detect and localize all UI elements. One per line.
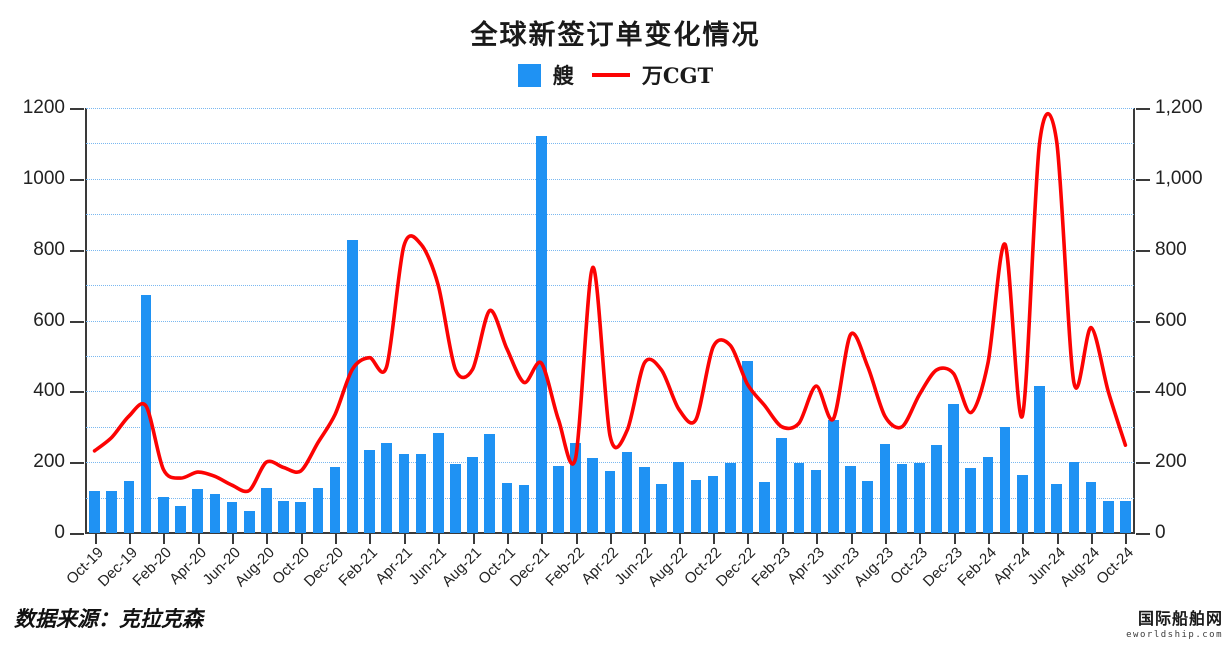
y-tick-left [70, 108, 84, 110]
watermark-en: eworldship.com [1126, 630, 1223, 640]
y-tick-left [70, 179, 84, 181]
legend-label-bar: 艘 [553, 60, 574, 90]
x-tick [266, 533, 268, 544]
watermark: 国际船舶网 eworldship.com [1126, 605, 1223, 640]
y-tick-right [1136, 108, 1150, 110]
x-tick [610, 533, 612, 544]
x-tick [335, 533, 337, 544]
x-tick [576, 533, 578, 544]
x-tick [507, 533, 509, 544]
x-tick [747, 533, 749, 544]
x-tick [129, 533, 131, 544]
y-axis-left-label: 1000 [23, 168, 65, 190]
legend-square-icon [518, 64, 541, 87]
watermark-cn: 国际船舶网 [1126, 605, 1223, 629]
x-tick [198, 533, 200, 544]
x-tick [644, 533, 646, 544]
x-tick [163, 533, 165, 544]
y-axis-left-label: 0 [54, 522, 65, 544]
x-tick [301, 533, 303, 544]
x-tick [1125, 533, 1127, 544]
x-tick [679, 533, 681, 544]
y-tick-left [70, 391, 84, 393]
line-series [86, 108, 1134, 533]
y-axis-left-label: 400 [33, 380, 65, 402]
y-axis-right-label: 1,200 [1155, 97, 1203, 119]
x-tick [1091, 533, 1093, 544]
y-axis-right-label: 0 [1155, 522, 1166, 544]
y-axis-right-label: 200 [1155, 451, 1187, 473]
y-axis-right-label: 600 [1155, 310, 1187, 332]
x-tick [541, 533, 543, 544]
chart-root: 全球新签订单变化情况 艘 万CGT 0020020040040060060080… [0, 0, 1231, 651]
x-tick [438, 533, 440, 544]
y-axis-left-label: 1200 [23, 97, 65, 119]
y-axis-right-label: 1,000 [1155, 168, 1203, 190]
x-tick [885, 533, 887, 544]
y-tick-left [70, 462, 84, 464]
source-note: 数据来源：克拉克森 [14, 603, 203, 633]
line-path [95, 114, 1126, 492]
legend-item-bar: 艘 [518, 60, 574, 90]
chart-legend: 艘 万CGT [0, 60, 1231, 90]
y-tick-left [70, 321, 84, 323]
x-tick [954, 533, 956, 544]
x-tick [232, 533, 234, 544]
y-tick-left [70, 250, 84, 252]
y-axis-left-label: 200 [33, 451, 65, 473]
x-tick [404, 533, 406, 544]
x-tick [713, 533, 715, 544]
y-axis-right-label: 400 [1155, 380, 1187, 402]
x-tick [919, 533, 921, 544]
legend-line-icon [592, 73, 630, 77]
y-axis-right-label: 800 [1155, 239, 1187, 261]
legend-label-line: 万CGT [642, 60, 713, 90]
y-tick-left [70, 533, 84, 535]
y-tick-right [1136, 391, 1150, 393]
y-tick-right [1136, 250, 1150, 252]
plot-area: 0020020040040060060080080010001,00012001… [86, 108, 1134, 533]
x-tick [851, 533, 853, 544]
x-tick [1022, 533, 1024, 544]
y-axis-left-label: 800 [33, 239, 65, 261]
x-tick [369, 533, 371, 544]
x-tick [816, 533, 818, 544]
y-tick-right [1136, 321, 1150, 323]
chart-title: 全球新签订单变化情况 [0, 13, 1231, 52]
x-tick [95, 533, 97, 544]
x-tick [473, 533, 475, 544]
legend-item-line: 万CGT [592, 60, 713, 90]
y-tick-right [1136, 462, 1150, 464]
x-tick [782, 533, 784, 544]
y-axis-left-label: 600 [33, 310, 65, 332]
y-tick-right [1136, 533, 1150, 535]
x-tick [988, 533, 990, 544]
x-tick [1057, 533, 1059, 544]
y-tick-right [1136, 179, 1150, 181]
